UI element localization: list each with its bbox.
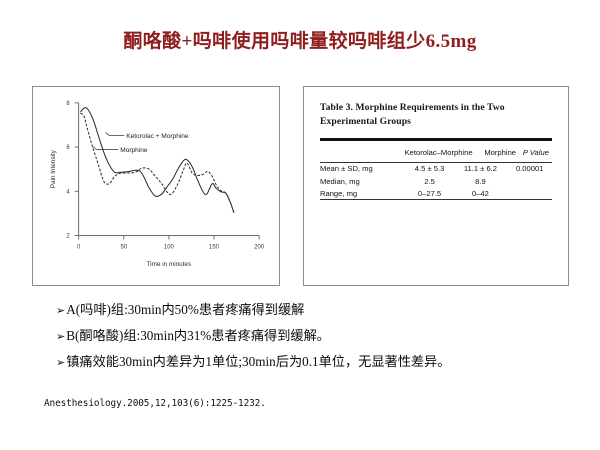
series-annotation-morphine: Morphine (93, 146, 148, 153)
table-row: Range, mg 0–27.5 0–42 (320, 187, 552, 199)
x-axis-ticks: 0 50 100 150 200 (77, 236, 265, 251)
list-item-label: B(酮咯酸)组:30min内31%患者疼痛得到缓解。 (66, 328, 330, 343)
list-item: ➢镇痛效能30min内差异为1单位;30min后为0.1单位，无显著性差异。 (56, 355, 576, 368)
x-tick-label: 200 (254, 244, 265, 250)
cell-range-morphine: 0–42 (454, 187, 508, 199)
cell-mean-morphine: 11.1 ± 6.2 (454, 163, 508, 175)
table-col-ketorolac-morphine: Ketorolac–Morphine (397, 141, 481, 162)
y-tick-label: 8 (66, 101, 70, 107)
row-label-mean-sd: Mean ± SD, mg (320, 163, 406, 175)
morphine-requirements-table-panel: Table 3. Morphine Requirements in the Tw… (303, 86, 569, 286)
bullet-arrow-icon: ➢ (56, 304, 65, 317)
x-axis-title: Time in minutes (147, 261, 191, 268)
table-row: Mean ± SD, mg 4.5 ± 5.3 11.1 ± 6.2 0.000… (320, 163, 552, 175)
cell-range-pvalue (507, 187, 552, 199)
page-title: 酮咯酸+吗啡使用吗啡量较吗啡组少6.5mg (0, 26, 600, 53)
x-tick-label: 150 (209, 244, 220, 250)
summary-bullet-list: ➢A(吗啡)组:30min内50%患者疼痛得到缓解 ➢B(酮咯酸)组:30min… (56, 303, 576, 382)
table-row: Median, mg 2.5 8.9 (320, 175, 552, 187)
x-tick-label: 0 (77, 244, 81, 250)
bullet-arrow-icon: ➢ (56, 330, 65, 343)
y-axis-ticks: 2 4 6 8 (66, 101, 78, 240)
y-tick-label: 4 (66, 189, 70, 195)
series-morphine-curve (80, 113, 233, 212)
cell-median-ketorolac: 2.5 (406, 175, 454, 187)
table-header: Ketorolac–Morphine Morphine P Value (320, 141, 552, 162)
table-col-morphine: Morphine (481, 141, 520, 162)
table-header-row: Ketorolac–Morphine Morphine P Value (320, 141, 552, 162)
table-caption: Table 3. Morphine Requirements in the Tw… (320, 101, 552, 129)
pain-intensity-chart-panel: 2 4 6 8 0 50 100 150 200 Pain Intensity … (32, 86, 280, 286)
figures-row: 2 4 6 8 0 50 100 150 200 Pain Intensity … (0, 86, 600, 288)
list-item: ➢B(酮咯酸)组:30min内31%患者疼痛得到缓解。 (56, 329, 576, 342)
list-item-label: 镇痛效能30min内差异为1单位;30min后为0.1单位，无显著性差异。 (66, 354, 450, 369)
series-annotation-ketorolac: Ketorolac + Morphine (105, 133, 189, 140)
cell-median-morphine: 8.9 (454, 175, 508, 187)
series-label-morphine: Morphine (120, 147, 148, 154)
table-body: Mean ± SD, mg 4.5 ± 5.3 11.1 ± 6.2 0.000… (320, 163, 552, 200)
cell-median-pvalue (507, 175, 552, 187)
y-axis-title: Pain Intensity (50, 149, 57, 188)
citation-reference: Anesthesiology.2005,12,103(6):1225-1232. (44, 398, 266, 409)
y-tick-label: 6 (66, 145, 70, 151)
table-col-p-value: P Value (520, 141, 552, 162)
pain-intensity-line-chart: 2 4 6 8 0 50 100 150 200 Pain Intensity … (33, 87, 279, 285)
series-label-ketorolac: Ketorolac + Morphine (126, 133, 189, 140)
list-item: ➢A(吗啡)组:30min内50%患者疼痛得到缓解 (56, 303, 576, 316)
bullet-arrow-icon: ➢ (56, 356, 65, 369)
row-label-range: Range, mg (320, 187, 406, 199)
y-tick-label: 2 (66, 234, 69, 240)
row-label-median: Median, mg (320, 175, 406, 187)
table-col-blank (320, 141, 397, 162)
list-item-label: A(吗啡)组:30min内50%患者疼痛得到缓解 (66, 302, 304, 317)
morphine-requirements-table: Ketorolac–Morphine Morphine P Value (320, 141, 552, 162)
x-tick-label: 100 (164, 244, 175, 250)
cell-range-ketorolac: 0–27.5 (406, 187, 454, 199)
series-ketorolac-morphine-curve (80, 108, 233, 213)
cell-mean-ketorolac: 4.5 ± 5.3 (406, 163, 454, 175)
table-bottom-rule (320, 199, 552, 200)
cell-mean-pvalue: 0.00001 (507, 163, 552, 175)
x-tick-label: 50 (120, 244, 127, 250)
morphine-requirements-table-body-wrap: Mean ± SD, mg 4.5 ± 5.3 11.1 ± 6.2 0.000… (320, 163, 552, 200)
